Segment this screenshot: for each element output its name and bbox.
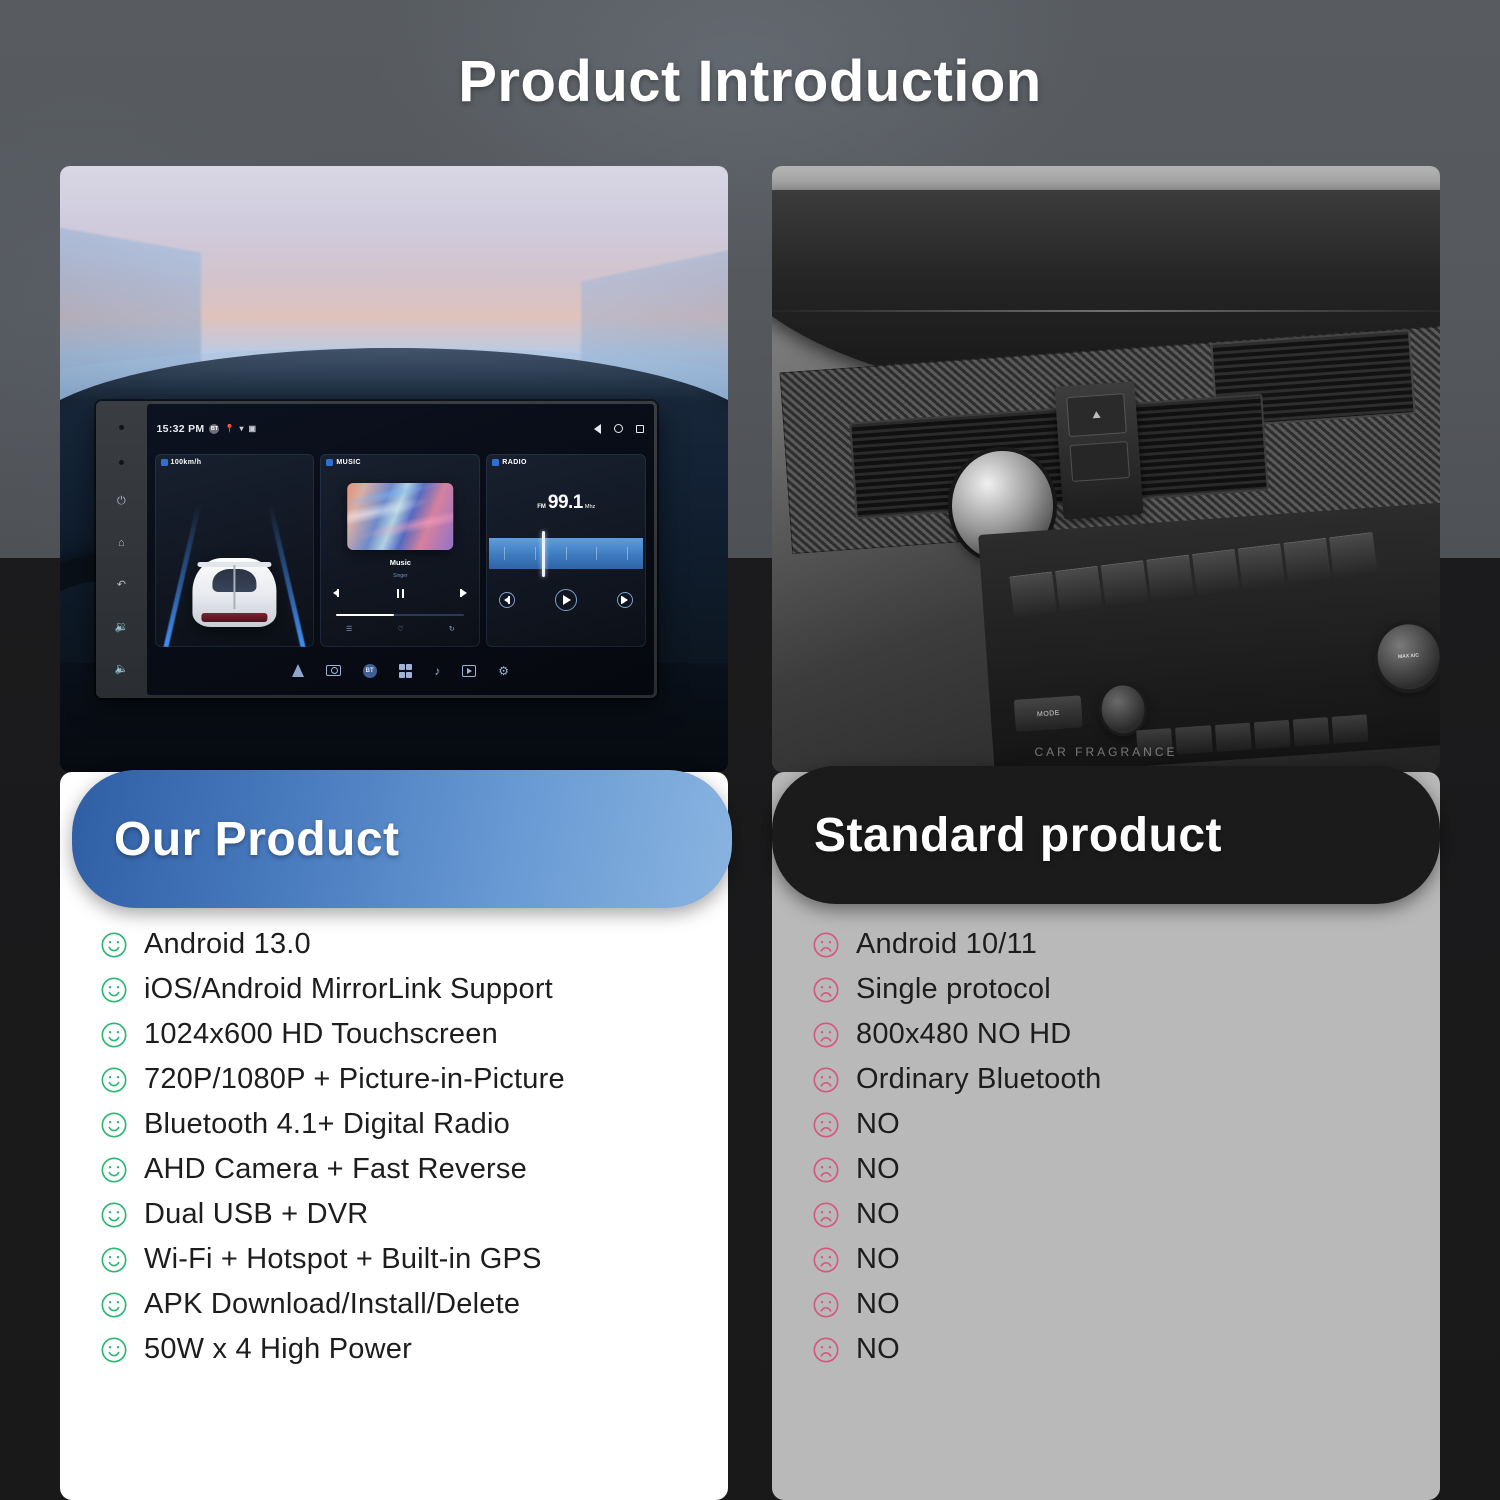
head-unit-device: ⏻ ⌂ ↶ 🔉 🔈 15:32 PM BT 📍 ▾ ▣	[96, 401, 657, 698]
feature-label: iOS/Android MirrorLink Support	[144, 973, 553, 1006]
sad-face-icon	[812, 1201, 840, 1229]
music-icon[interactable]: ♪	[434, 664, 440, 678]
standard-product-heading: Standard product	[772, 766, 1440, 904]
widget-music[interactable]: MUSIC Music Singer ☰ ♡	[320, 454, 480, 647]
next-icon[interactable]	[461, 589, 467, 597]
panel-standard-product: MODE MAX A/C CAR FRAGRANCE Standard prod…	[772, 166, 1440, 772]
our-product-card: Our Product Android 13.0 iOS/Android Mir…	[60, 772, 728, 1500]
happy-face-icon	[100, 1336, 128, 1364]
standard-product-photo: MODE MAX A/C CAR FRAGRANCE	[772, 166, 1440, 772]
radio-control-panel: MODE MAX A/C	[978, 501, 1440, 772]
list-item: 50W x 4 High Power	[100, 1327, 688, 1372]
video-icon[interactable]	[462, 665, 476, 677]
feature-label: AHD Camera + Fast Reverse	[144, 1153, 527, 1186]
radio-tuner-needle[interactable]	[542, 531, 545, 577]
reset-dot[interactable]	[119, 460, 124, 465]
list-item: APK Download/Install/Delete	[100, 1282, 688, 1327]
music-tile-icon	[326, 459, 333, 466]
volume-down-icon[interactable]: 🔈	[114, 664, 128, 675]
page-title: Product Introduction	[0, 48, 1500, 115]
recents-icon[interactable]	[636, 425, 644, 433]
wifi-icon: ▾	[239, 424, 243, 433]
radio-unit: Mhz	[585, 504, 595, 510]
happy-face-icon	[100, 1066, 128, 1094]
happy-face-icon	[100, 931, 128, 959]
list-item: Android 13.0	[100, 922, 688, 967]
play-icon[interactable]	[555, 589, 577, 611]
panel-our-product: ⏻ ⌂ ↶ 🔉 🔈 15:32 PM BT 📍 ▾ ▣	[60, 166, 728, 772]
mic-dot	[119, 425, 124, 430]
bluetooth-icon: BT	[209, 424, 219, 434]
music-extra-icons: ☰ ♡ ↻	[346, 625, 455, 633]
apps-icon[interactable]	[399, 664, 413, 678]
repeat-icon[interactable]: ↻	[449, 625, 455, 633]
list-item: 1024x600 HD Touchscreen	[100, 1012, 688, 1057]
list-item: NO	[812, 1102, 1400, 1147]
list-item: 720P/1080P + Picture-in-Picture	[100, 1057, 688, 1102]
location-pin-icon: 📍	[224, 424, 234, 433]
our-product-heading: Our Product	[72, 770, 732, 908]
happy-face-icon	[100, 1021, 128, 1049]
our-product-feature-list: Android 13.0 iOS/Android MirrorLink Supp…	[60, 922, 728, 1372]
preset-buttons[interactable]	[1009, 531, 1377, 616]
list-item: NO	[812, 1282, 1400, 1327]
back-icon[interactable]: ↶	[117, 580, 126, 591]
feature-label: Ordinary Bluetooth	[856, 1063, 1101, 1096]
dashboard-highlight	[60, 348, 728, 403]
list-item: Dual USB + DVR	[100, 1192, 688, 1237]
feature-label: 1024x600 HD Touchscreen	[144, 1018, 498, 1051]
previous-icon[interactable]	[499, 592, 515, 608]
happy-face-icon	[100, 1111, 128, 1139]
feature-label: Bluetooth 4.1+ Digital Radio	[144, 1108, 510, 1141]
widget-navigation-header: 100km/h	[161, 459, 202, 466]
radio-title: RADIO	[502, 459, 527, 466]
standard-product-feature-list: Android 10/11 Single protocol 800x480 NO…	[772, 922, 1440, 1372]
radio-frequency-display: FM 99.1 Mhz	[486, 492, 646, 514]
sad-face-icon	[812, 1021, 840, 1049]
car-illustration	[193, 558, 276, 627]
feature-label: Wi-Fi + Hotspot + Built-in GPS	[144, 1243, 542, 1276]
feature-label: NO	[856, 1198, 900, 1231]
mode-button[interactable]: MODE	[1014, 695, 1083, 731]
volume-knob[interactable]	[1099, 683, 1146, 734]
android-nav-buttons	[594, 424, 644, 434]
standard-product-card: Standard product Android 10/11 Single pr…	[772, 772, 1440, 1500]
feature-label: NO	[856, 1288, 900, 1321]
lane-line-right	[267, 504, 305, 647]
feature-label: Android 13.0	[144, 928, 311, 961]
radio-frequency: 99.1	[548, 492, 583, 514]
radio-controls	[499, 589, 633, 611]
door-lock-icon[interactable]	[1070, 441, 1130, 482]
happy-face-icon	[100, 1291, 128, 1319]
status-clock: 15:32 PM	[157, 423, 205, 435]
list-item: Android 10/11	[812, 922, 1400, 967]
widget-navigation[interactable]: 100km/h	[155, 454, 315, 647]
sad-face-icon	[812, 1246, 840, 1274]
list-item: 800x480 NO HD	[812, 1012, 1400, 1057]
sad-face-icon	[812, 931, 840, 959]
head-unit-bezel: ⏻ ⌂ ↶ 🔉 🔈	[96, 401, 146, 698]
sad-face-icon	[812, 1291, 840, 1319]
sd-card-icon: ▣	[248, 424, 256, 433]
max-ac-knob[interactable]: MAX A/C	[1375, 622, 1440, 692]
list-item: NO	[812, 1147, 1400, 1192]
playlist-icon[interactable]: ☰	[346, 625, 352, 633]
radio-band: FM	[537, 504, 546, 510]
home-icon[interactable]	[614, 424, 623, 433]
happy-face-icon	[100, 976, 128, 1004]
feature-label: NO	[856, 1333, 900, 1366]
back-icon[interactable]	[594, 424, 601, 434]
happy-face-icon	[100, 1156, 128, 1184]
list-item: NO	[812, 1327, 1400, 1372]
feature-label: 720P/1080P + Picture-in-Picture	[144, 1063, 565, 1096]
happy-face-icon	[100, 1201, 128, 1229]
hazard-button-cluster	[1055, 382, 1144, 521]
widget-row: 100km/h	[147, 454, 655, 649]
feature-label: NO	[856, 1153, 900, 1186]
list-item: NO	[812, 1237, 1400, 1282]
pause-icon[interactable]	[397, 589, 404, 598]
sad-face-icon	[812, 1156, 840, 1184]
app-dock: BT ♪ ⚙	[147, 649, 655, 696]
feature-label: 50W x 4 High Power	[144, 1333, 412, 1366]
track-name: Music	[320, 558, 480, 567]
status-bar: 15:32 PM BT 📍 ▾ ▣	[147, 404, 655, 453]
list-item: NO	[812, 1192, 1400, 1237]
settings-icon[interactable]: ⚙	[498, 664, 509, 678]
widget-radio[interactable]: RADIO FM 99.1 Mhz	[486, 454, 646, 647]
feature-label: Dual USB + DVR	[144, 1198, 368, 1231]
radio-tuner-bar[interactable]	[489, 538, 642, 569]
sad-face-icon	[812, 1336, 840, 1364]
feature-label: Single protocol	[856, 973, 1051, 1006]
sad-face-icon	[812, 976, 840, 1004]
feature-label: Android 10/11	[856, 928, 1037, 961]
list-item: AHD Camera + Fast Reverse	[100, 1147, 688, 1192]
list-item: Bluetooth 4.1+ Digital Radio	[100, 1102, 688, 1147]
radio-tile-icon	[492, 459, 499, 466]
next-icon[interactable]	[617, 592, 633, 608]
home-icon[interactable]: ⌂	[118, 538, 125, 549]
sad-face-icon	[812, 1066, 840, 1094]
feature-label: NO	[856, 1108, 900, 1141]
bluetooth-icon[interactable]: BT	[363, 664, 377, 678]
our-product-photo: ⏻ ⌂ ↶ 🔉 🔈 15:32 PM BT 📍 ▾ ▣	[60, 166, 728, 772]
feature-label: APK Download/Install/Delete	[144, 1288, 520, 1321]
hazard-light-icon[interactable]	[1067, 393, 1127, 437]
list-item: Ordinary Bluetooth	[812, 1057, 1400, 1102]
list-item: Single protocol	[812, 967, 1400, 1012]
radio-icon[interactable]	[326, 665, 341, 676]
progress-bar[interactable]	[336, 614, 464, 616]
album-art	[348, 483, 454, 551]
speed-label: 100km/h	[171, 459, 202, 466]
car-stripe	[234, 565, 236, 609]
list-item: iOS/Android MirrorLink Support	[100, 967, 688, 1012]
widget-radio-header: RADIO	[492, 459, 527, 466]
sad-face-icon	[812, 1111, 840, 1139]
navigation-tile-icon	[161, 459, 168, 466]
photo-watermark: CAR FRAGRANCE	[772, 745, 1440, 759]
artist-name: Singer	[320, 573, 480, 579]
power-icon[interactable]: ⏻	[117, 496, 126, 507]
navigation-icon[interactable]	[292, 664, 304, 677]
head-unit-screen[interactable]: 15:32 PM BT 📍 ▾ ▣	[147, 404, 655, 695]
list-item: Wi-Fi + Hotspot + Built-in GPS	[100, 1237, 688, 1282]
favorite-icon[interactable]: ♡	[397, 625, 403, 633]
music-controls	[333, 589, 467, 598]
car-taillight	[201, 613, 268, 622]
volume-up-icon[interactable]: 🔉	[114, 622, 128, 633]
previous-icon[interactable]	[333, 589, 339, 597]
feature-label: NO	[856, 1243, 900, 1276]
music-title: MUSIC	[336, 459, 361, 466]
feature-label: 800x480 NO HD	[856, 1018, 1071, 1051]
widget-music-header: MUSIC	[326, 459, 361, 466]
happy-face-icon	[100, 1246, 128, 1274]
